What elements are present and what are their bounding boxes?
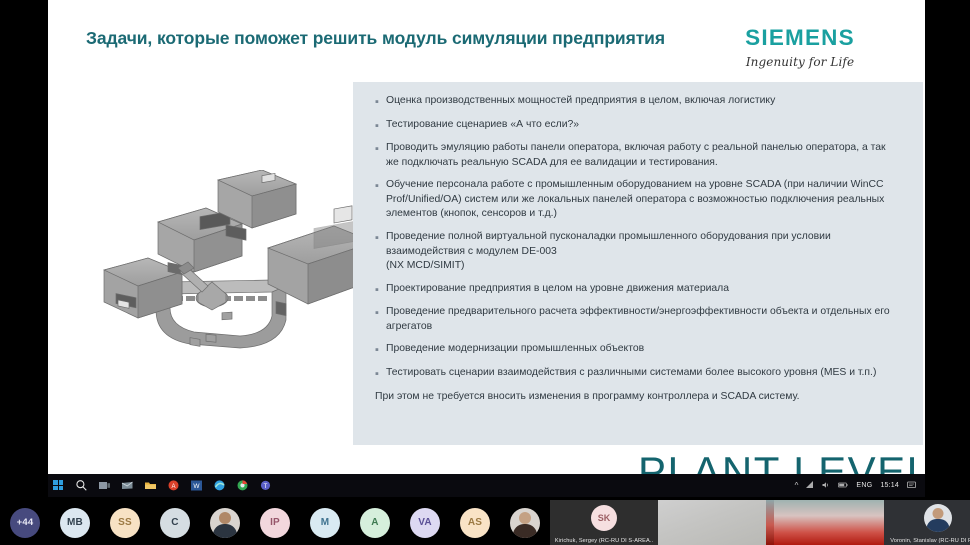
bullet-marker-icon: ▪ — [375, 305, 386, 321]
file-explorer-icon[interactable] — [144, 479, 157, 492]
participant-photo-2-slot[interactable] — [500, 508, 550, 538]
bullet-text: Проектирование предприятия в целом на ур… — [386, 282, 901, 297]
bullet-marker-icon: ▪ — [375, 230, 386, 246]
avatar[interactable]: M — [310, 508, 340, 538]
avatar[interactable]: +44 — [10, 508, 40, 538]
avatar-head — [933, 508, 944, 519]
notification-icon[interactable] — [907, 481, 916, 491]
bullet-text: Обучение персонала работе с промышленным… — [386, 178, 901, 222]
page-title: Задачи, которые поможет решить модуль си… — [86, 26, 666, 51]
bullet-marker-icon: ▪ — [375, 94, 386, 110]
bullet-marker-icon: ▪ — [375, 178, 386, 194]
avatar-body — [213, 524, 237, 538]
svg-text:T: T — [264, 484, 268, 490]
plant-level-banner: PLANT LEVEL — [638, 448, 925, 474]
bullet-marker-icon: ▪ — [375, 118, 386, 134]
siemens-tagline: Ingenuity for Life — [705, 55, 895, 69]
search-icon[interactable] — [75, 479, 88, 492]
windows-start-icon[interactable] — [52, 479, 65, 492]
participant-as-slot[interactable]: AS — [450, 508, 500, 538]
mail-app-icon[interactable] — [121, 479, 134, 492]
participant-c-slot[interactable]: C — [150, 508, 200, 538]
avatar[interactable] — [210, 508, 240, 538]
participant-m-slot[interactable]: M — [300, 508, 350, 538]
bullet-text: Проведение модернизации промышленных объ… — [386, 342, 901, 357]
participant-name-label: Kirichuk, Sergey (RC-RU DI S-AREA.. — [550, 538, 658, 544]
meeting-participant-strip: +44 MB SS C IP M A VA AS SK Kirichuk, Se… — [0, 500, 970, 545]
participant-va-slot[interactable]: VA — [400, 508, 450, 538]
avatar[interactable] — [510, 508, 540, 538]
participant-name-label: Voronin, Stanislav (RC-RU DI FA AS) — [884, 538, 970, 544]
avatar-body — [513, 524, 537, 538]
avatar-head — [519, 512, 531, 524]
bullet-text: Оценка производственных мощностей предпр… — [386, 94, 901, 109]
avatar[interactable]: SS — [110, 508, 140, 538]
chrome-browser-icon[interactable] — [236, 479, 249, 492]
closing-note: При этом не требуется вносить изменения … — [375, 390, 901, 405]
participant-a-slot[interactable]: A — [350, 508, 400, 538]
bullet-item: ▪ Проводить эмуляцию работы панели опера… — [375, 141, 901, 170]
participant-ss-slot[interactable]: SS — [100, 508, 150, 538]
tile-video-divider — [766, 500, 774, 545]
bullet-item: ▪ Проведение модернизации промышленных о… — [375, 342, 901, 358]
language-indicator[interactable]: ENG — [856, 482, 872, 489]
participant-photo-1-slot[interactable] — [200, 508, 250, 538]
avatar[interactable]: A — [360, 508, 390, 538]
bullet-marker-icon: ▪ — [375, 366, 386, 382]
windows-taskbar: A W T ^ — [48, 474, 925, 497]
task-view-icon[interactable] — [98, 479, 111, 492]
bullet-marker-icon: ▪ — [375, 342, 386, 358]
bullet-text: Тестирование сценариев «А что если?» — [386, 118, 901, 133]
participant-ip-slot[interactable]: IP — [250, 508, 300, 538]
bullet-item: ▪ Обучение персонала работе с промышленн… — [375, 178, 901, 222]
bullet-text: Проведение предварительного расчета эффе… — [386, 305, 901, 334]
bullet-item: ▪ Проведение предварительного расчета эф… — [375, 305, 901, 334]
word-app-icon[interactable]: W — [190, 479, 203, 492]
tile-video-red[interactable] — [774, 500, 884, 545]
participant-mb-slot[interactable]: MB — [50, 508, 100, 538]
siemens-wordmark: SIEMENS — [705, 27, 895, 50]
bullet-text: Тестировать сценарии взаимодействия с ра… — [386, 366, 901, 381]
acrobat-reader-icon[interactable]: A — [167, 479, 180, 492]
avatar[interactable]: C — [160, 508, 190, 538]
screen-share-region: Задачи, которые поможет решить модуль си… — [0, 0, 970, 500]
bullet-marker-icon: ▪ — [375, 282, 386, 298]
avatar[interactable]: MB — [60, 508, 90, 538]
bullet-item: ▪ Тестирование сценариев «А что если?» — [375, 118, 901, 134]
shared-desktop: Задачи, которые поможет решить модуль си… — [48, 0, 925, 497]
avatar: SK — [591, 505, 617, 531]
presentation-slide: Задачи, которые поможет решить модуль си… — [48, 0, 925, 474]
industrial-line-illustration — [90, 170, 390, 370]
bullet-item: ▪ Проведение полной виртуальной пусконал… — [375, 230, 901, 274]
show-hidden-icons-icon[interactable]: ^ — [795, 481, 799, 490]
bullet-text: Проведение полной виртуальной пусконалад… — [386, 230, 901, 274]
clock[interactable]: 15:14 — [880, 482, 899, 489]
siemens-logo: SIEMENS Ingenuity for Life — [705, 27, 895, 69]
bullet-text: Проводить эмуляцию работы панели операто… — [386, 141, 901, 170]
system-tray: ^ ENG 15:14 — [791, 481, 920, 491]
signal-icon[interactable] — [806, 481, 814, 491]
bullet-item: ▪ Проектирование предприятия в целом на … — [375, 282, 901, 298]
battery-icon[interactable] — [838, 481, 848, 491]
svg-text:A: A — [171, 484, 175, 490]
avatar-head — [219, 512, 231, 524]
avatar[interactable]: IP — [260, 508, 290, 538]
avatar[interactable]: VA — [410, 508, 440, 538]
teams-app-icon[interactable]: T — [259, 479, 272, 492]
speaker-icon[interactable] — [822, 481, 830, 491]
avatar — [924, 504, 952, 532]
tile-kirichuk[interactable]: SK Kirichuk, Sergey (RC-RU DI S-AREA.. — [550, 500, 658, 545]
participant-overflow-slot[interactable]: +44 — [0, 508, 50, 538]
avatar-body — [927, 519, 950, 532]
bullet-item: ▪ Тестировать сценарии взаимодействия с … — [375, 366, 901, 382]
edge-browser-icon[interactable] — [213, 479, 226, 492]
bullet-marker-icon: ▪ — [375, 141, 386, 157]
bullet-item: ▪ Оценка производственных мощностей пред… — [375, 94, 901, 110]
tile-voronin[interactable]: Voronin, Stanislav (RC-RU DI FA AS) — [884, 500, 970, 545]
svg-text:W: W — [193, 483, 200, 490]
bullet-content-panel: ▪ Оценка производственных мощностей пред… — [353, 82, 923, 445]
tile-video-grey[interactable] — [658, 500, 766, 545]
avatar[interactable]: AS — [460, 508, 490, 538]
